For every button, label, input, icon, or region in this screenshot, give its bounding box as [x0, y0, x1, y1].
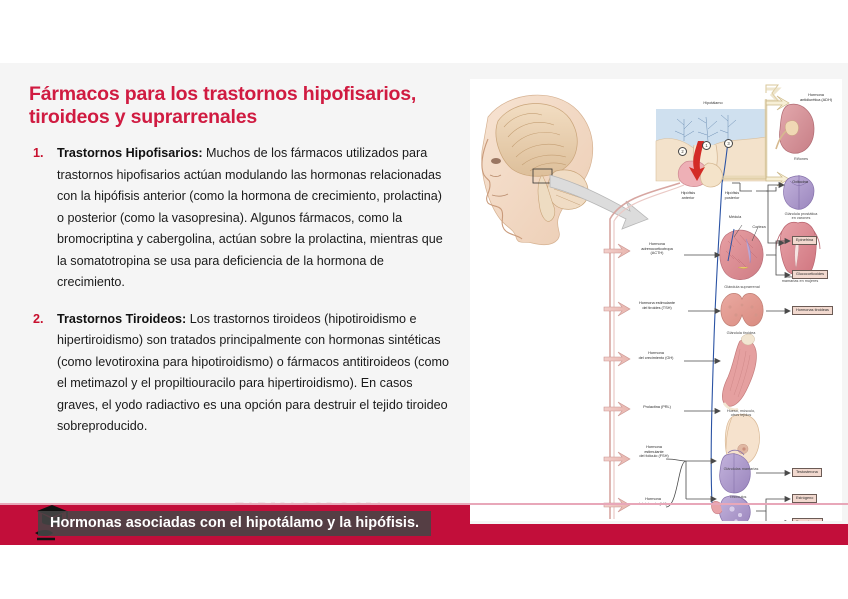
- figure-hormone-tsh: Hormona estimulante del tiroides (TSH): [626, 301, 688, 310]
- list-item-number: 2.: [33, 309, 44, 331]
- figure-product-glucocorticoides: Glucocorticoides: [792, 270, 828, 279]
- endocrine-diagram: Hipotálamo Hipófisis anterior Hipófisis …: [470, 79, 842, 521]
- figure-hormone-prl: Prolactina (PRL): [628, 405, 686, 410]
- list-item: 2.Trastornos Tiroideos: Los trastornos t…: [29, 309, 449, 438]
- figure-hormone-fsh: Hormona estimulante del folículo (FSH): [626, 445, 682, 459]
- list-item-text: Muchos de los fármacos utilizados para t…: [57, 146, 443, 289]
- musculoskeletal-illustration: [722, 334, 756, 410]
- list-item: 1.Trastornos Hipofisarios: Muchos de los…: [29, 143, 449, 294]
- figure-label-corteza: Corteza: [746, 225, 772, 230]
- figure-product-hormonas-tiroideas: Hormonas tiroideas: [792, 306, 833, 315]
- figure-product-progesterona: Progesterona: [792, 518, 823, 521]
- figure-panel: Hipotálamo Hipófisis anterior Hipófisis …: [470, 79, 842, 521]
- list-item-text: Los trastornos tiroideos (hipotiroidismo…: [57, 312, 449, 434]
- slide-canvas: Fármacos para los trastornos hipofisario…: [0, 63, 848, 535]
- figure-organ-mamaria: Glándulas mamarias: [712, 467, 770, 471]
- list-item-lead: Trastornos Hipofisarios:: [57, 146, 203, 160]
- figure-organ-tiroides: Glándula tiroidea: [714, 331, 768, 335]
- ovary-illustration: [711, 496, 750, 521]
- figure-product-estrogeno: Estrógeno: [792, 494, 817, 503]
- text-column: Fármacos para los trastornos hipofisario…: [29, 83, 449, 453]
- figure-organ-rinones: Riñones: [780, 157, 822, 161]
- figure-marker-1: 1: [702, 141, 711, 150]
- page-title: Fármacos para los trastornos hipofisario…: [29, 83, 449, 129]
- figure-product-epinefrina: Epinefrina: [792, 236, 817, 245]
- caption-text: Hormonas asociadas con el hipotálamo y l…: [38, 511, 431, 536]
- figure-marker-2: 2: [678, 147, 687, 156]
- uterus-illustration: [776, 222, 820, 275]
- figure-organ-suprarrenal: Glándula suprarrenal: [708, 285, 776, 289]
- figure-hormone-oxitocina: Oxitocina: [784, 180, 816, 185]
- head-anatomy-illustration: [482, 95, 648, 245]
- figure-organ-prostata: Glándula prostática en varones: [772, 212, 830, 221]
- figure-label-hipofisis-anterior: Hipófisis anterior: [668, 191, 708, 200]
- figure-label-hipofisis-posterior: Hipófisis posterior: [712, 191, 752, 200]
- figure-organ-huesos: Hueso, músculo, otros tejidos: [716, 409, 766, 418]
- caption-band-right: [470, 524, 848, 545]
- figure-hormone-gh: Hormona del crecimiento (GH): [626, 351, 686, 360]
- figure-hormone-adh: Hormona antidiurética (ADH): [790, 93, 842, 102]
- figure-product-testosterona: Testosterona: [792, 468, 822, 477]
- thyroid-gland-illustration: [721, 293, 763, 326]
- adrenal-gland-illustration: [720, 225, 763, 280]
- figure-hormone-acth: Hormona adrenocorticotropa (ACTH): [628, 242, 686, 256]
- figure-marker-3: 3: [724, 139, 733, 148]
- anterior-hormone-arrows: [604, 244, 630, 512]
- list-item-lead: Trastornos Tiroideos:: [57, 312, 186, 326]
- figure-label-hipotalamo: Hipotálamo: [688, 101, 738, 106]
- list-item-number: 1.: [33, 143, 44, 165]
- figure-label-medula: Médula: [722, 215, 748, 220]
- kidney-illustration: [776, 104, 814, 153]
- figure-organ-testiculos: Testículos: [718, 495, 758, 499]
- body-list: 1.Trastornos Hipofisarios: Muchos de los…: [29, 143, 449, 438]
